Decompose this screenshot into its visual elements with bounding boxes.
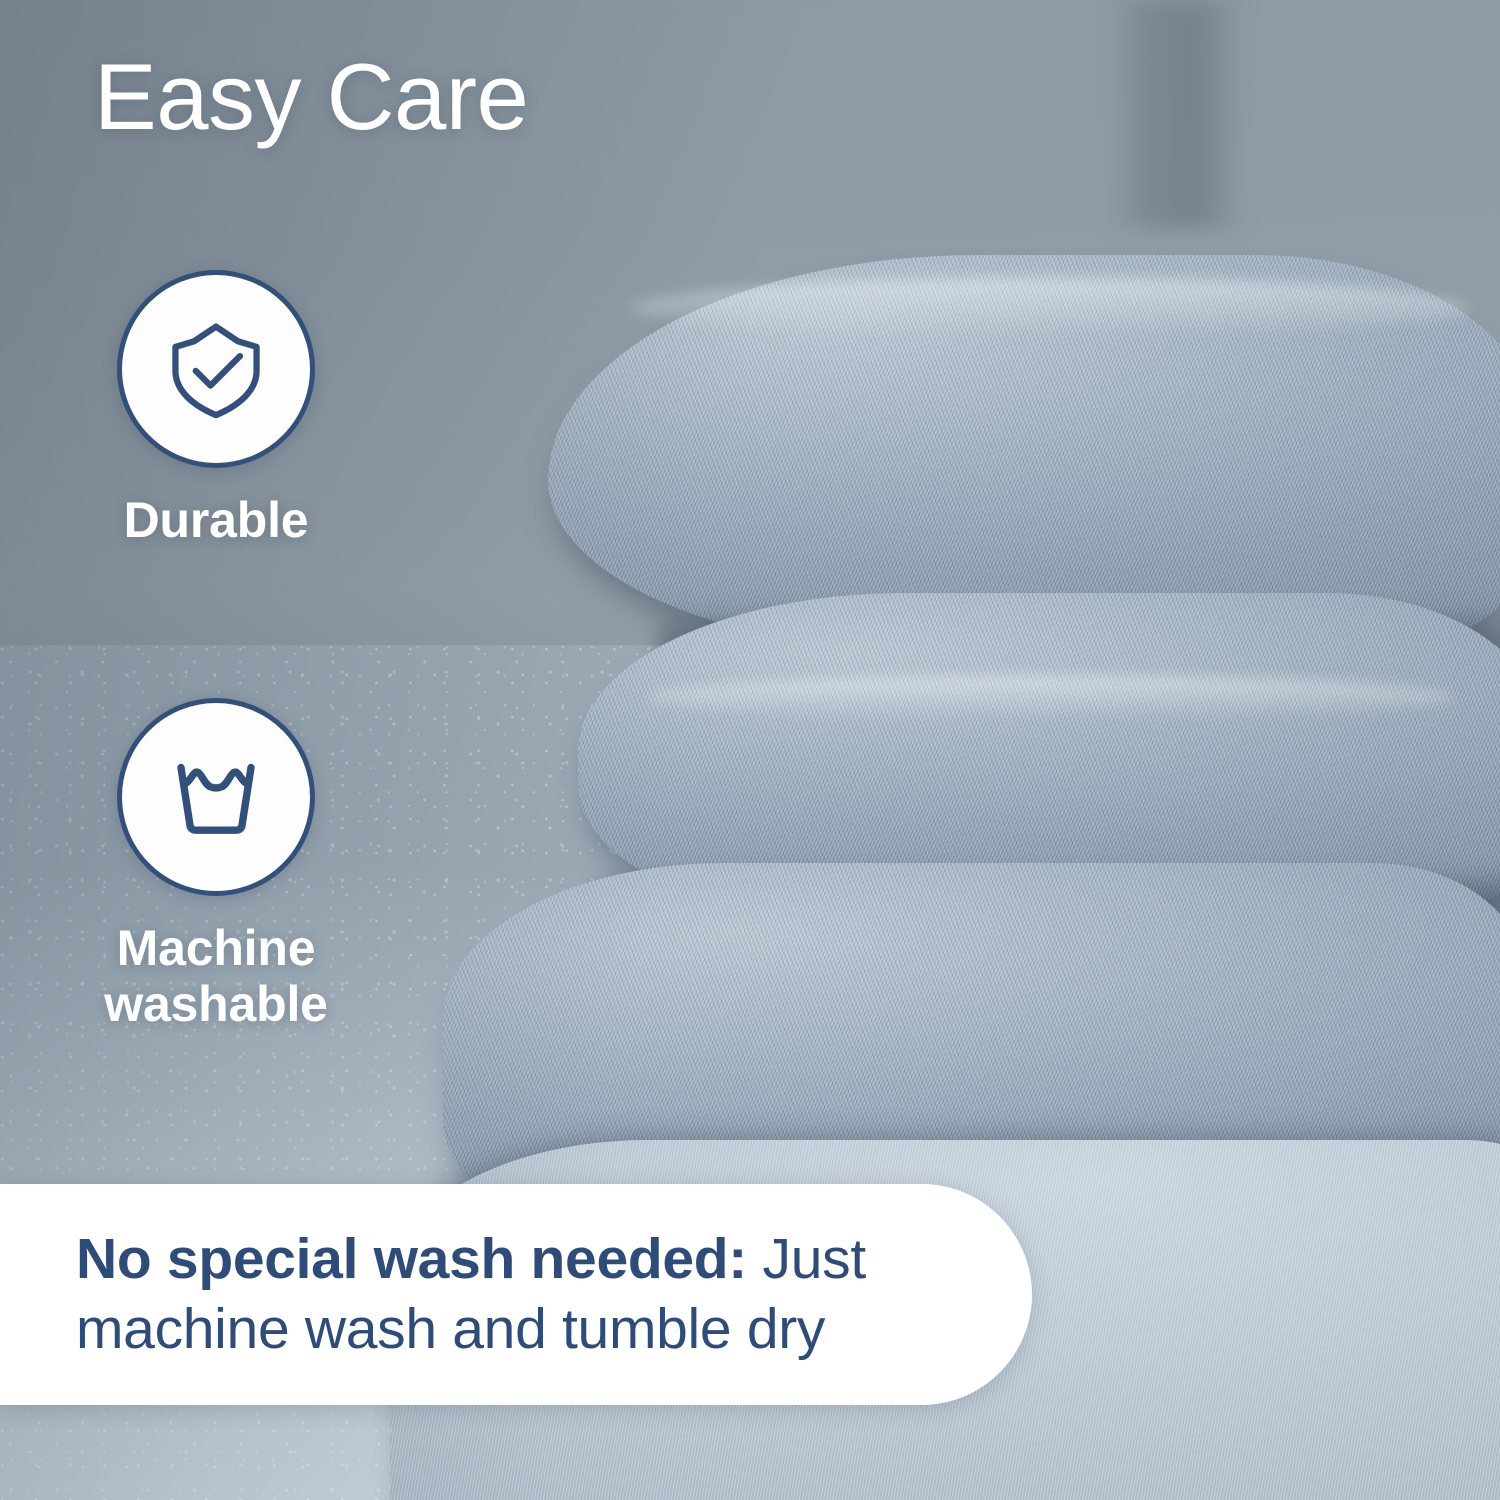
feature-item-machine-washable: Machine washable [60,698,372,1032]
feature-icon-badge [117,270,315,468]
page-title: Easy Care [94,48,528,147]
bottom-callout-banner: No special wash needed: Just machine was… [0,1184,1032,1405]
machine-wash-tub-icon [157,738,275,856]
feature-label-machine-washable: Machine washable [60,920,372,1032]
feature-list: Durable Machine washable [60,270,372,1032]
callout-text: No special wash needed: Just machine was… [0,1225,1032,1364]
callout-text-bold: No special wash needed: [76,1227,747,1291]
feature-item-durable: Durable [60,270,372,548]
shield-check-icon [157,310,275,428]
feature-icon-badge [117,698,315,896]
overlay-content: Easy Care Durable [0,0,1500,1500]
feature-label-durable: Durable [60,492,372,548]
product-feature-image: Easy Care Durable [0,0,1500,1500]
